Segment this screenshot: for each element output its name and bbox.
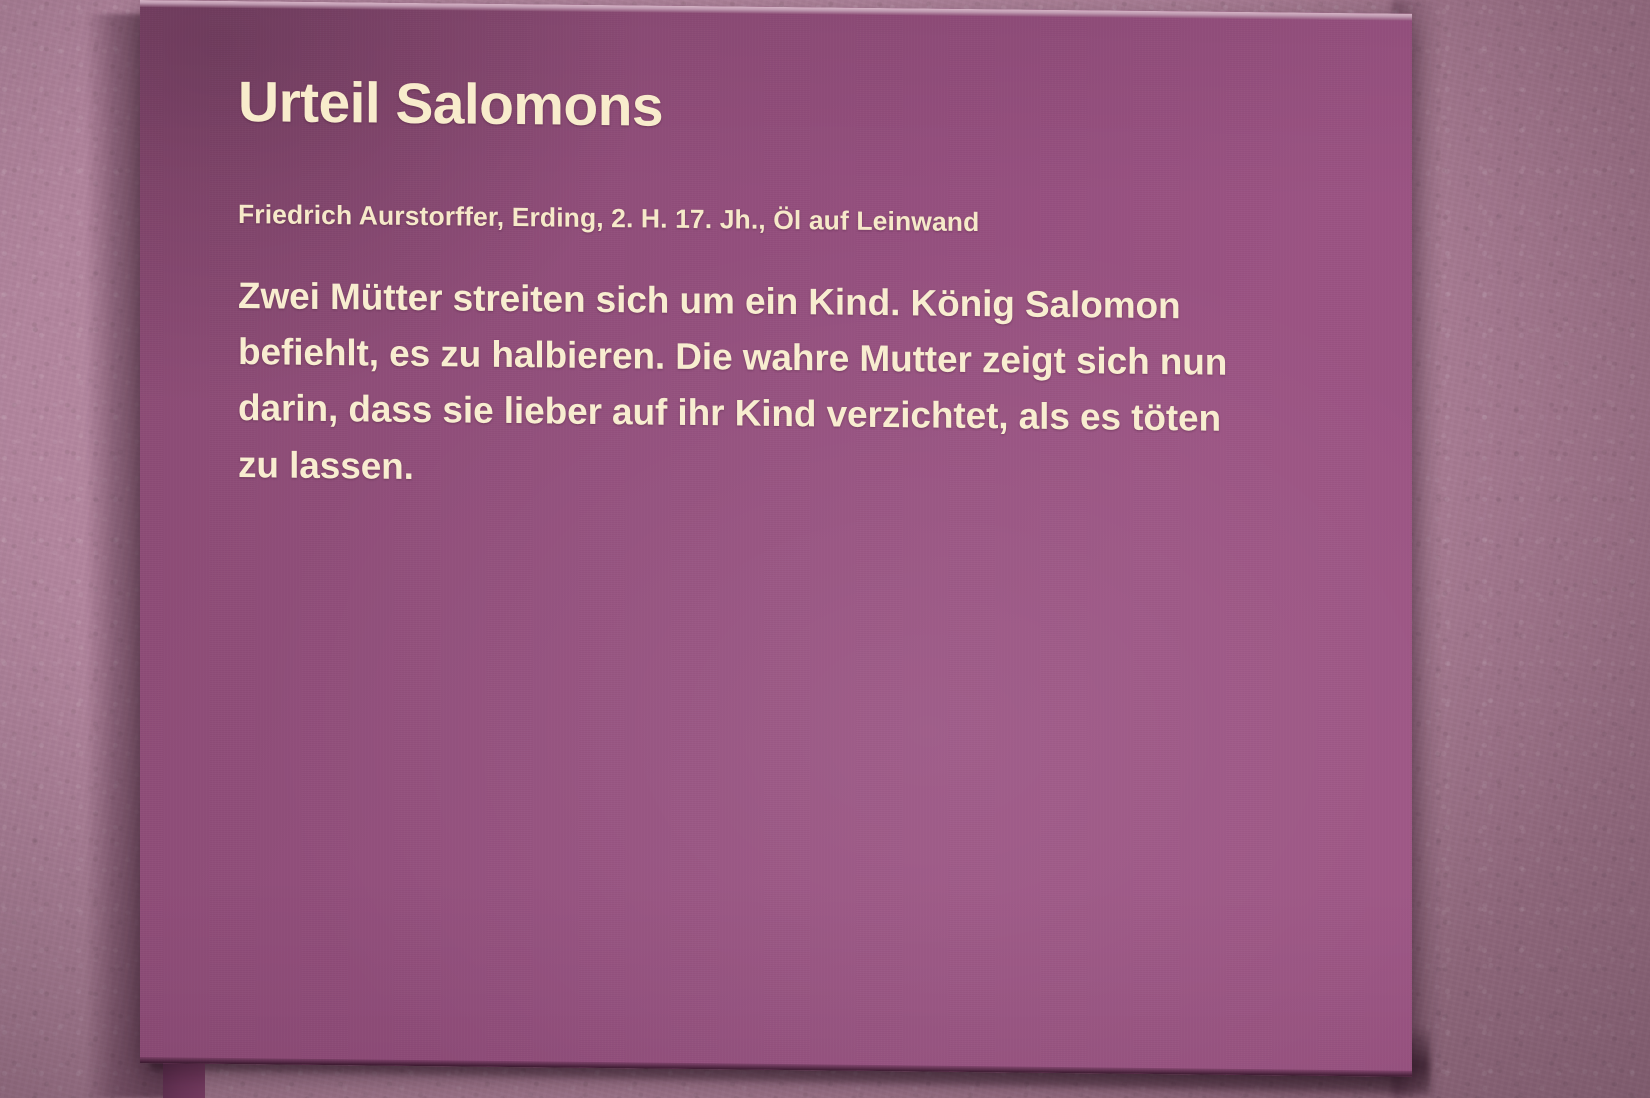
description-line: darin, dass sie lieber auf ihr Kind verz… xyxy=(238,380,1268,447)
museum-label-photo: Urteil Salomons Friedrich Aurstorffer, E… xyxy=(0,0,1650,1098)
label-text-block: Urteil Salomons Friedrich Aurstorffer, E… xyxy=(238,73,1298,504)
artwork-description: Zwei Mütter streiten sich um ein Kind. K… xyxy=(238,268,1268,504)
description-line: zu lassen. xyxy=(238,437,1268,504)
wall-label-panel: Urteil Salomons Friedrich Aurstorffer, E… xyxy=(140,0,1412,1077)
artwork-title: Urteil Salomons xyxy=(238,73,1298,144)
artwork-credit-line: Friedrich Aurstorffer, Erding, 2. H. 17.… xyxy=(238,199,1298,241)
